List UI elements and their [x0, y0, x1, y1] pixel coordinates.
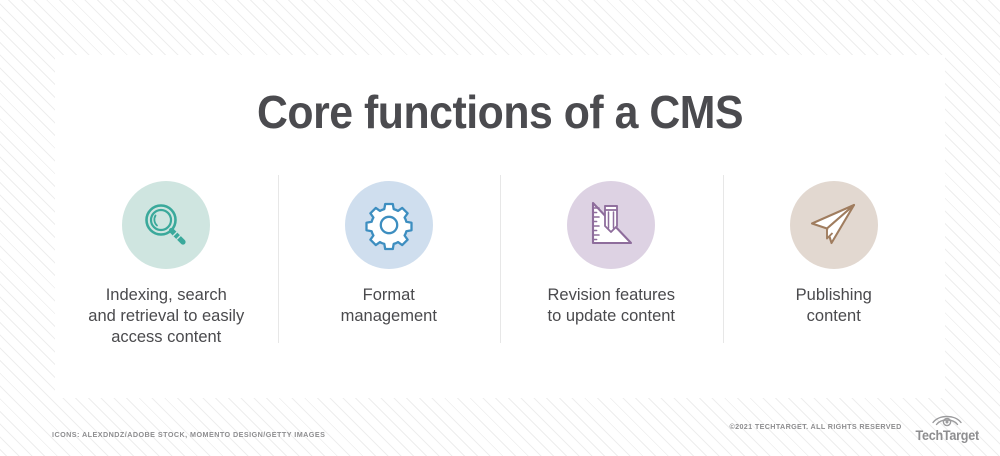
image-credit: ICONS: ALEXDNDZ/ADOBE STOCK, MOMENTO DES…	[52, 430, 325, 439]
function-caption: Format management	[341, 285, 437, 327]
caption-line: Indexing, search	[88, 285, 244, 306]
function-column-revision: Revision features to update content	[500, 175, 723, 365]
function-caption: Publishing content	[796, 285, 872, 327]
caption-line: access content	[88, 327, 244, 348]
ruler-pencil-icon	[584, 198, 638, 252]
techtarget-logo: TechTarget	[912, 412, 982, 442]
content-card: Core functions of a CMS Indexing, search	[55, 55, 945, 398]
function-column-indexing: Indexing, search and retrieval to easily…	[55, 175, 278, 365]
function-column-format: Format management	[278, 175, 501, 365]
eye-icon	[927, 412, 967, 427]
infographic-canvas: Core functions of a CMS Indexing, search	[0, 0, 1000, 456]
gear-icon	[363, 199, 415, 251]
caption-line: content	[796, 306, 872, 327]
caption-line: Revision features	[547, 285, 675, 306]
function-caption: Revision features to update content	[547, 285, 675, 327]
magnifying-glass-icon	[140, 199, 192, 251]
caption-line: and retrieval to easily	[88, 306, 244, 327]
footer-branding: ©2021 TECHTARGET. ALL RIGHTS RESERVED Te…	[729, 412, 982, 442]
paper-plane-icon-circle	[790, 181, 878, 269]
function-caption: Indexing, search and retrieval to easily…	[88, 285, 244, 348]
caption-line: Publishing	[796, 285, 872, 306]
paper-plane-icon	[807, 198, 861, 252]
ruler-pencil-icon-circle	[567, 181, 655, 269]
caption-line: management	[341, 306, 437, 327]
magnifying-glass-icon-circle	[122, 181, 210, 269]
function-column-publishing: Publishing content	[723, 175, 946, 365]
techtarget-wordmark: TechTarget	[915, 428, 978, 442]
functions-row: Indexing, search and retrieval to easily…	[55, 175, 945, 365]
caption-line: to update content	[547, 306, 675, 327]
page-title: Core functions of a CMS	[86, 85, 914, 139]
copyright-notice: ©2021 TECHTARGET. ALL RIGHTS RESERVED	[729, 422, 901, 433]
caption-line: Format	[341, 285, 437, 306]
gear-icon-circle	[345, 181, 433, 269]
